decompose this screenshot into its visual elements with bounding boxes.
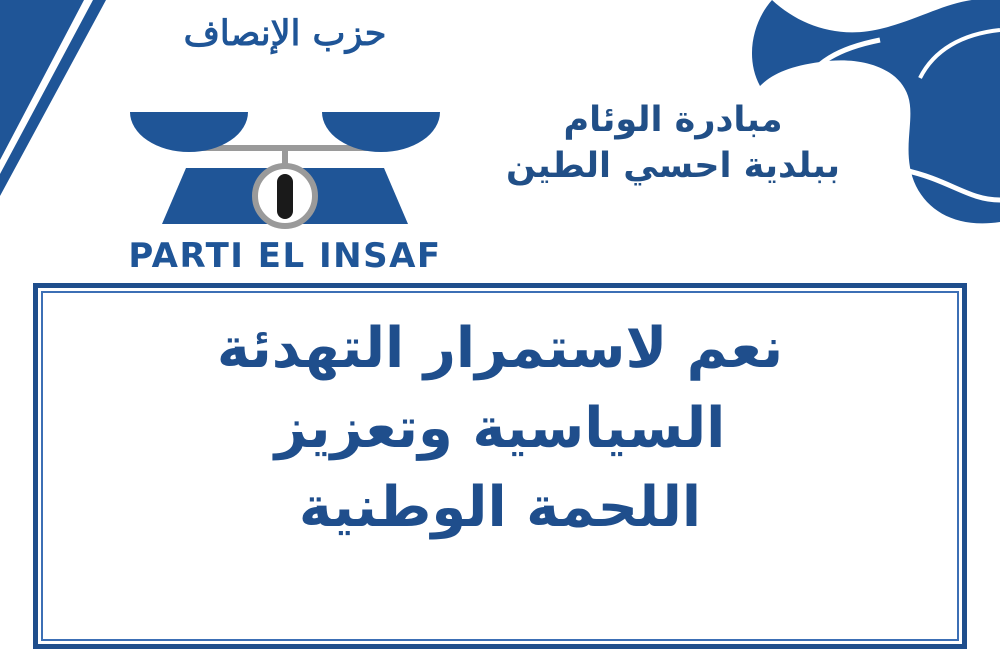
- slogan-line-3: اللحمة الوطنية: [43, 468, 957, 548]
- initiative-headline: مبادرة الوئام ببلدية احسي الطين: [438, 98, 908, 189]
- slogan-text: نعم لاستمرار التهدئة السياسية وتعزيز الل…: [43, 293, 957, 548]
- poster-canvas: حزب الإنصاف PARTI EL INSAF: [0, 0, 1000, 666]
- top-left-triangle-decoration: [0, 0, 106, 196]
- headline-line-2: ببلدية احسي الطين: [438, 144, 908, 190]
- slogan-frame-inner: نعم لاستمرار التهدئة السياسية وتعزيز الل…: [41, 291, 959, 641]
- slogan-frame: نعم لاستمرار التهدئة السياسية وتعزيز الل…: [33, 283, 967, 649]
- slogan-line-1: نعم لاستمرار التهدئة: [43, 309, 957, 389]
- party-logo: حزب الإنصاف PARTI EL INSAF: [120, 14, 450, 280]
- logo-latin-name: PARTI EL INSAF: [120, 236, 450, 276]
- slogan-line-2: السياسية وتعزيز: [43, 389, 957, 469]
- balance-scale-icon: [120, 68, 450, 233]
- logo-arabic-name: حزب الإنصاف: [120, 14, 450, 54]
- headline-line-1: مبادرة الوئام: [438, 98, 908, 144]
- scale-pointer: [277, 174, 293, 219]
